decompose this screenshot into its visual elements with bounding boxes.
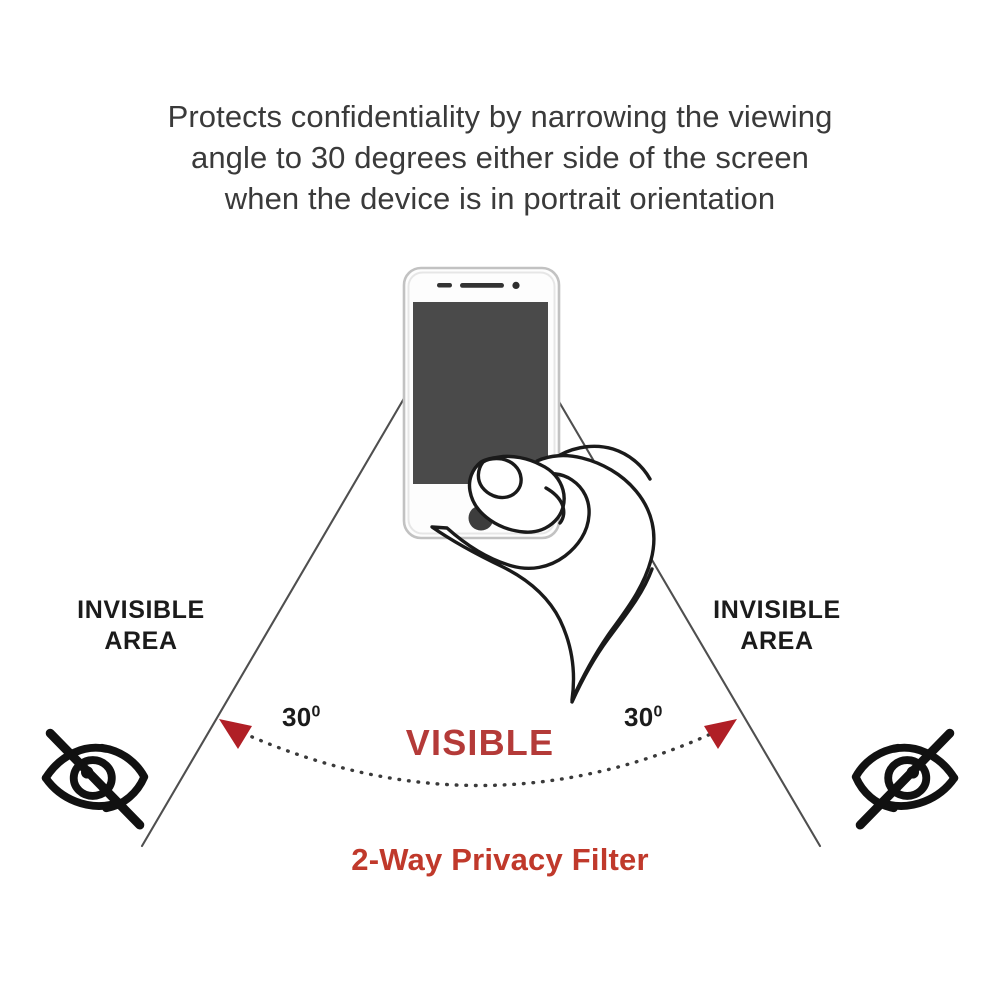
front-camera-icon (512, 282, 519, 289)
arrow-red-right (704, 719, 737, 749)
angle-label-right: 300 (624, 702, 663, 733)
product-name-label: 2-Way Privacy Filter (280, 842, 720, 878)
proximity-sensor-icon (437, 283, 452, 288)
invisible-right-line-1: INVISIBLE (713, 596, 841, 624)
angle-right-unit: 0 (654, 703, 663, 720)
speaker-slot-icon (460, 283, 504, 288)
diagram-canvas: Protects confidentiality by narrowing th… (0, 0, 1000, 1000)
eye-off-icon-left (46, 733, 145, 825)
angle-left-value: 30 (282, 702, 312, 732)
eye-off-icon-right (856, 733, 955, 825)
visible-area-label: VISIBLE (370, 722, 590, 764)
invisible-area-label-right: INVISIBLE AREA (662, 595, 892, 657)
angle-left-unit: 0 (312, 703, 321, 720)
phone-screen (413, 302, 548, 484)
invisible-left-line-1: INVISIBLE (77, 596, 205, 624)
arrow-red-left (219, 719, 252, 749)
invisible-left-line-2: AREA (26, 626, 256, 657)
invisible-area-label-left: INVISIBLE AREA (26, 595, 256, 657)
angle-label-left: 300 (282, 702, 321, 733)
thumb-tip (478, 459, 521, 498)
invisible-right-line-2: AREA (662, 626, 892, 657)
angle-right-value: 30 (624, 702, 654, 732)
